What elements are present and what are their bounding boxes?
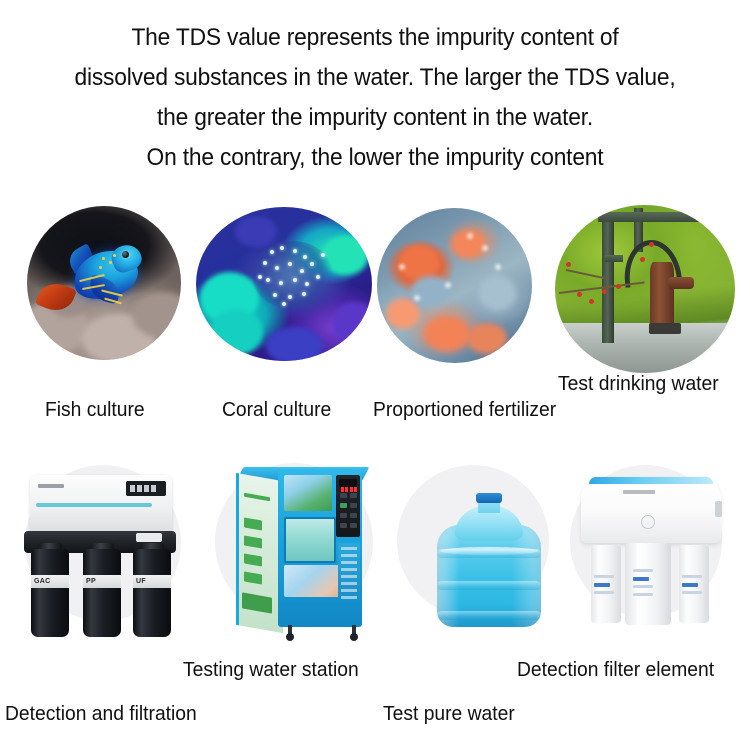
cartridge-label-uf: UF — [133, 575, 171, 588]
header-line-3: the greater the impurity content in the … — [26, 98, 724, 138]
caption-test-drinking-water: Test drinking water — [558, 372, 719, 396]
header-line-1: The TDS value represents the impurity co… — [26, 18, 724, 58]
water-jug-image — [397, 459, 557, 639]
caption-test-pure-water: Test pure water — [383, 702, 515, 726]
caption-testing-water-station: Testing water station — [183, 658, 359, 682]
cartridge-label-gac: GAC — [31, 575, 69, 588]
caption-detection-filter-element: Detection filter element — [517, 658, 714, 682]
cartridge-label-pp: PP — [83, 575, 121, 588]
caption-fish-culture: Fish culture — [45, 398, 145, 422]
fish-culture-image — [27, 206, 181, 360]
gallery-row-2: GAC PP UF Detection and filtration — [0, 445, 750, 750]
caption-proportioned-fertilizer: Proportioned fertilizer — [373, 398, 556, 422]
caption-coral-culture: Coral culture — [222, 398, 331, 422]
ro-purifier-image: GAC PP UF — [18, 453, 193, 643]
test-drinking-water-image — [555, 205, 735, 373]
header-line-4: On the contrary, the lower the impurity … — [26, 138, 724, 178]
water-vending-machine-image — [214, 455, 384, 650]
header-text-block: The TDS value represents the impurity co… — [0, 18, 750, 178]
proportioned-fertilizer-image — [377, 208, 532, 363]
header-line-2: dissolved substances in the water. The l… — [26, 58, 724, 98]
gallery-row-1: Fish culture — [0, 202, 750, 427]
white-ro-filter-image — [567, 457, 742, 637]
caption-detection-and-filtration: Detection and filtration — [5, 702, 197, 726]
coral-culture-image — [196, 207, 372, 361]
